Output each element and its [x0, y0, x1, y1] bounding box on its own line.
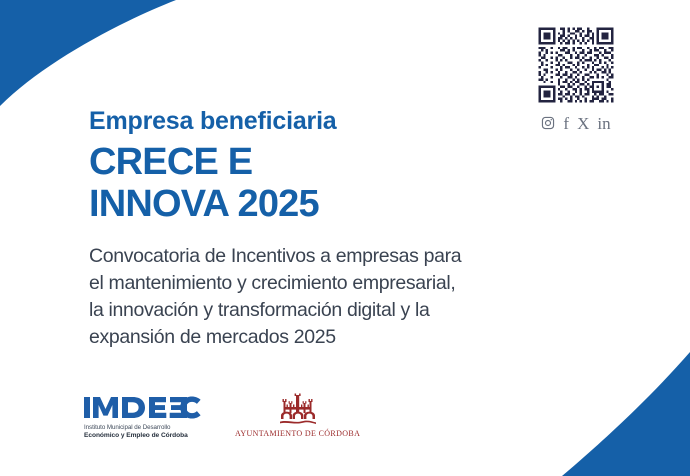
imdeec-subtitle-line-2: Económico y Empleo de Córdoba — [84, 432, 201, 441]
headline-line-1: CRECE E — [89, 142, 509, 183]
qr-and-social-block: f X in — [536, 25, 616, 132]
ayuntamiento-name: AYUNTAMIENTO DE CÓRDOBA — [235, 429, 360, 438]
linkedin-icon[interactable]: in — [597, 115, 610, 132]
body-copy-line-4: expansión de mercados 2025 — [89, 324, 489, 351]
social-icons-row: f X in — [536, 114, 616, 132]
headline-line-2: INNOVA 2025 — [89, 184, 509, 225]
facebook-icon[interactable]: f — [563, 115, 569, 132]
eyebrow-label: Empresa beneficiaria — [89, 108, 509, 136]
qr-code-icon[interactable] — [536, 25, 616, 105]
instagram-icon[interactable] — [541, 116, 555, 130]
body-copy-line-1: Convocatoria de Incentivos a empresas pa… — [89, 243, 489, 270]
body-copy: Convocatoria de Incentivos a empresas pa… — [89, 243, 489, 351]
top-left-blue-curve — [0, 0, 176, 106]
body-copy-line-3: la innovación y transformación digital y… — [89, 297, 489, 324]
imdeec-logo[interactable]: Instituto Municipal de Desarrollo Económ… — [84, 392, 201, 441]
body-copy-line-2: el mantenimiento y crecimiento empresari… — [89, 270, 489, 297]
footer-logos: Instituto Municipal de Desarrollo Económ… — [84, 392, 360, 441]
poster-canvas: Empresa beneficiaria CRECE E INNOVA 2025… — [0, 0, 690, 476]
imdeec-subtitle-line-1: Instituto Municipal de Desarrollo — [84, 424, 201, 432]
x-twitter-icon[interactable]: X — [577, 115, 589, 132]
imdeec-wordmark-icon — [84, 394, 201, 421]
ayuntamiento-logo[interactable]: AYUNTAMIENTO DE CÓRDOBA — [235, 392, 360, 438]
cordoba-city-crest-icon — [278, 393, 318, 427]
headline-block: Empresa beneficiaria CRECE E INNOVA 2025 — [89, 108, 509, 225]
imdeec-subtitle: Instituto Municipal de Desarrollo Económ… — [84, 424, 201, 441]
bottom-right-blue-curve — [562, 352, 690, 476]
